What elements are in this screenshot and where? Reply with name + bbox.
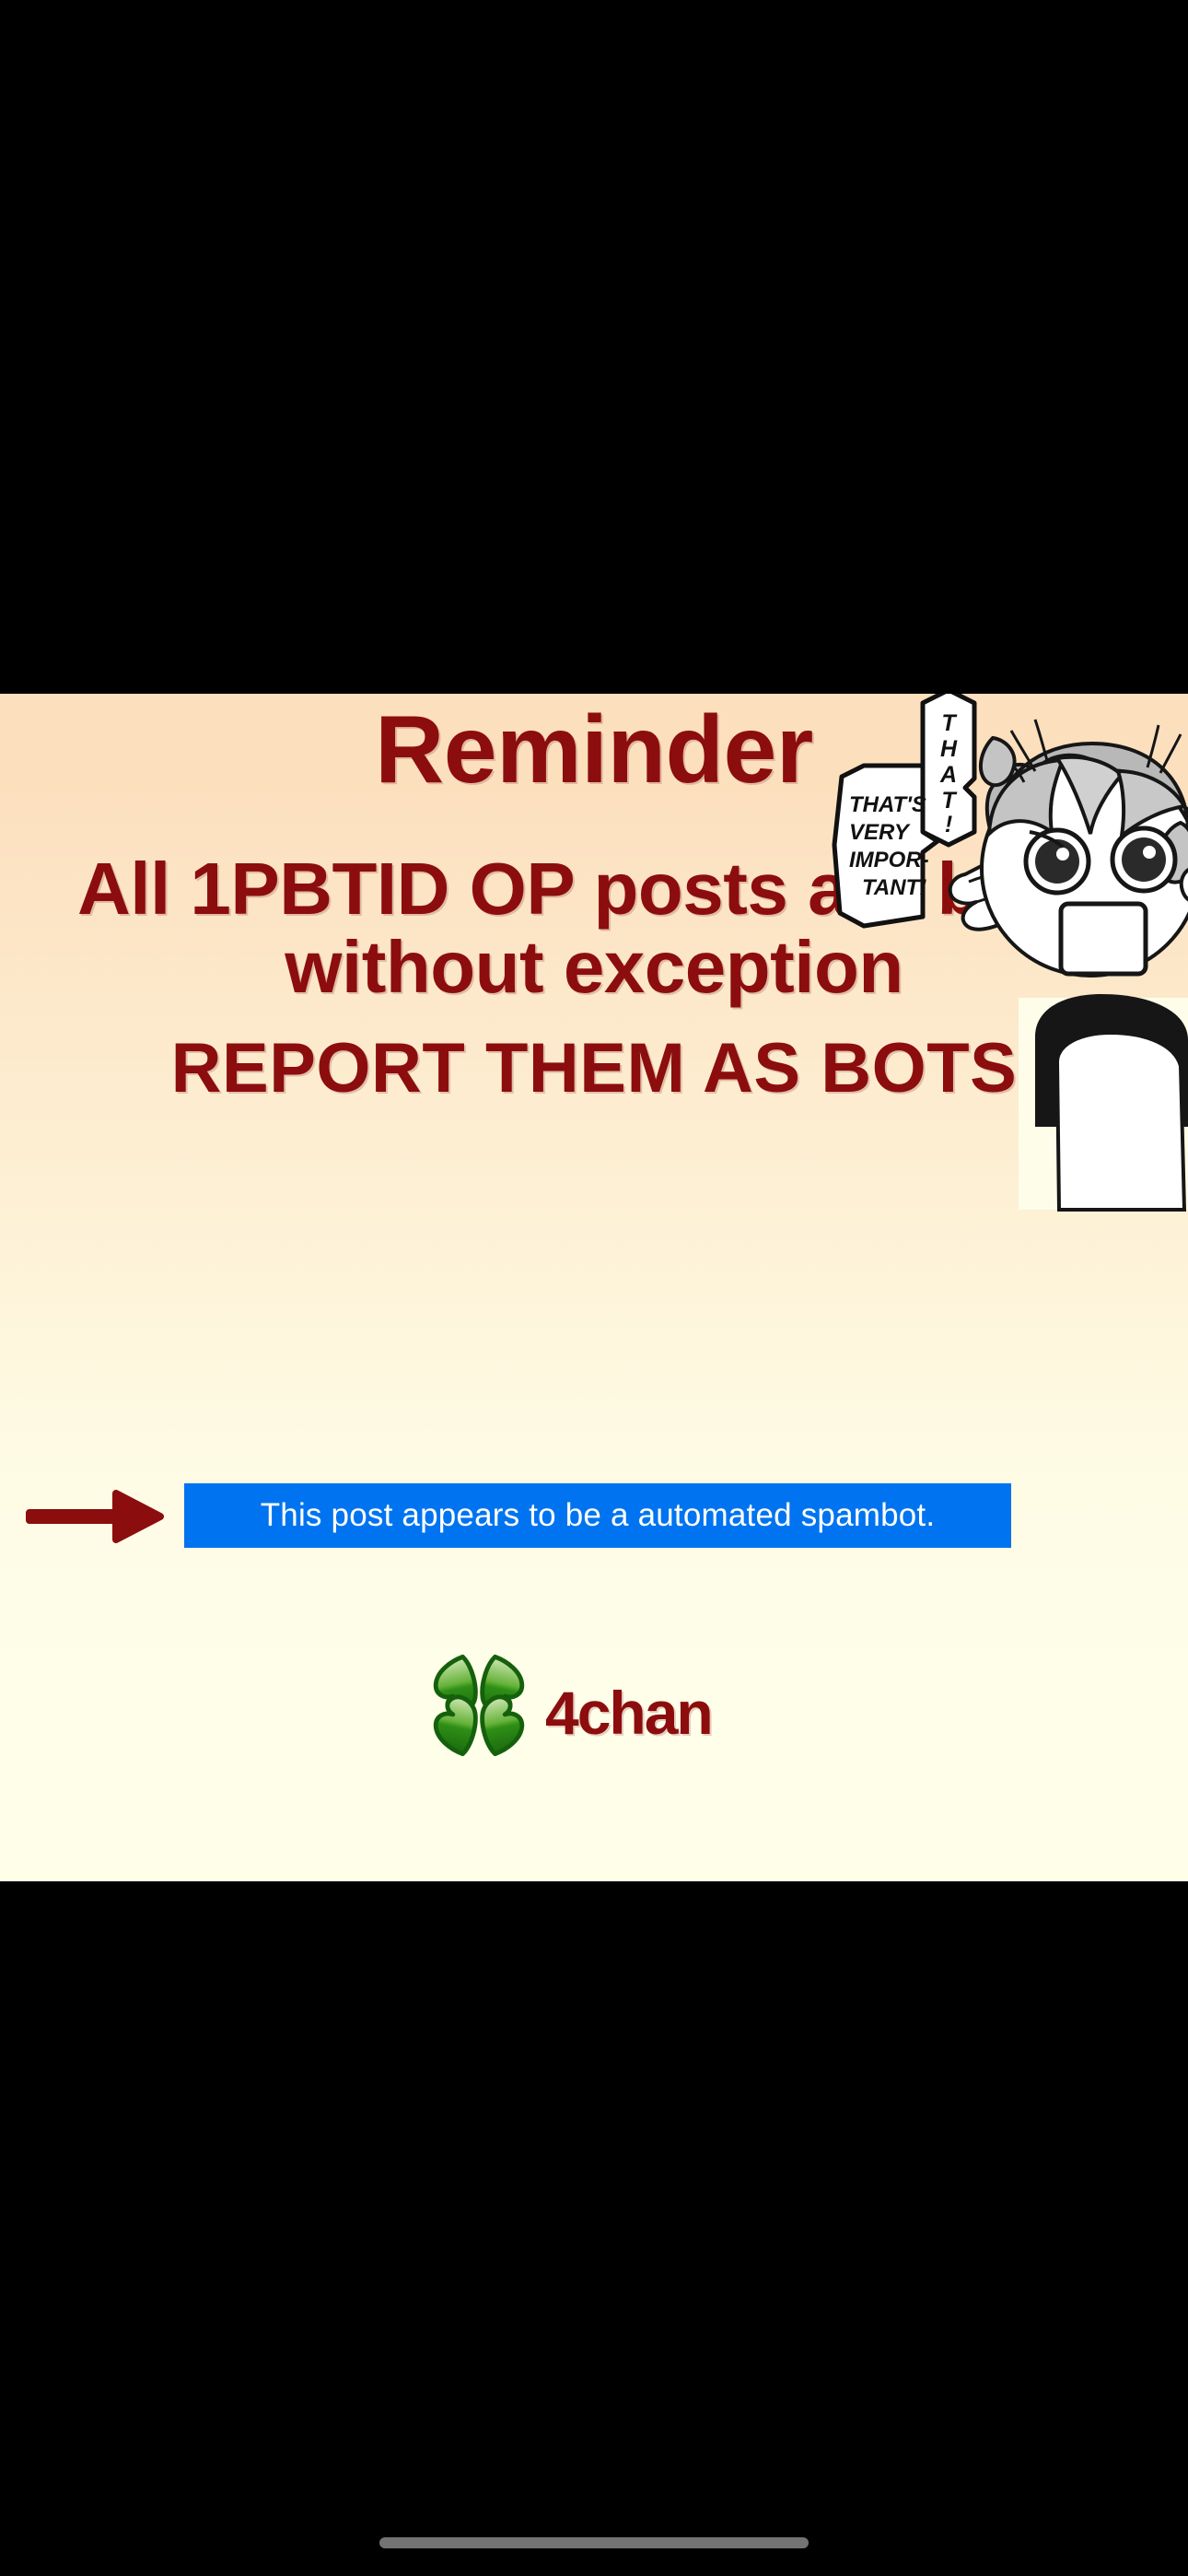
phone-screen: Reminder All 1PBTID OP posts are bots, w… (0, 0, 1188, 2576)
callout-text: REPORT THEM AS BOTS (0, 1032, 1188, 1107)
brand-logo: 4chan (425, 1652, 712, 1759)
home-indicator[interactable] (379, 2537, 809, 2548)
svg-text:!: ! (945, 812, 952, 837)
subheadline-text: All 1PBTID OP posts are bots, without ex… (0, 850, 1188, 1007)
four-leaf-clover-icon (425, 1652, 532, 1759)
brand-wordmark: 4chan (545, 1682, 712, 1743)
right-arrow-icon (26, 1488, 164, 1545)
report-reason-label: This post appears to be a automated spam… (261, 1497, 936, 1534)
meme-image[interactable]: Reminder All 1PBTID OP posts are bots, w… (0, 694, 1188, 1881)
page-title: Reminder (0, 699, 1188, 801)
report-reason-banner[interactable]: This post appears to be a automated spam… (184, 1483, 1011, 1548)
svg-text:VERY: VERY (849, 820, 911, 845)
